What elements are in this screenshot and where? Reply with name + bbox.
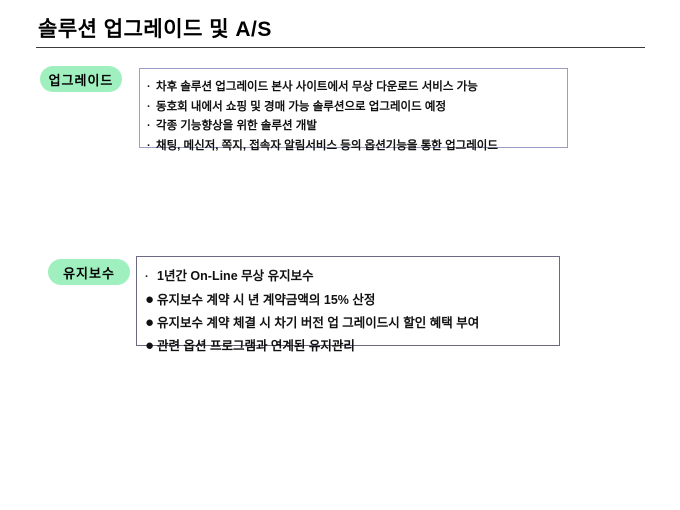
list-item: · 각종 기능향상을 위한 솔루션 개발 xyxy=(147,117,567,137)
bullet-dot-icon: ● xyxy=(145,334,157,357)
upgrade-bullet-list: · 차후 솔루션 업그레이드 본사 사이트에서 무상 다운로드 서비스 가능 ·… xyxy=(147,78,567,156)
bullet-dot-icon: ● xyxy=(145,288,157,311)
bullet-dot-icon: · xyxy=(147,137,156,157)
section-label-upgrade-text: 업그레이드 xyxy=(49,70,114,89)
list-item-text: 유지보수 계약 체결 시 차기 버전 업 그레이드시 할인 혜택 부여 xyxy=(157,312,479,335)
list-item: ● 유지보수 계약 체결 시 차기 버전 업 그레이드시 할인 혜택 부여 xyxy=(145,311,559,334)
list-item: · 1년간 On-Line 무상 유지보수 xyxy=(145,265,559,288)
list-item-text: 관련 옵션 프로그램과 연계된 유지관리 xyxy=(157,335,355,358)
maintenance-content-box: · 1년간 On-Line 무상 유지보수 ● 유지보수 계약 시 년 계약금액… xyxy=(136,256,560,346)
list-item-text: 동호회 내에서 쇼핑 및 경매 가능 솔루션으로 업그레이드 예정 xyxy=(156,98,446,118)
bullet-dot-icon: · xyxy=(147,117,156,137)
list-item-text: 각종 기능향상을 위한 솔루션 개발 xyxy=(156,117,317,137)
list-item-text: 차후 솔루션 업그레이드 본사 사이트에서 무상 다운로드 서비스 가능 xyxy=(156,78,478,98)
list-item: · 동호회 내에서 쇼핑 및 경매 가능 솔루션으로 업그레이드 예정 xyxy=(147,98,567,118)
upgrade-content-box: · 차후 솔루션 업그레이드 본사 사이트에서 무상 다운로드 서비스 가능 ·… xyxy=(139,68,568,148)
bullet-dot-icon: · xyxy=(145,266,157,289)
list-item-text: 채팅, 메신저, 쪽지, 접속자 알림서비스 등의 옵션기능을 통한 업그레이드 xyxy=(156,137,498,157)
section-label-upgrade: 업그레이드 xyxy=(40,66,122,92)
list-item: · 차후 솔루션 업그레이드 본사 사이트에서 무상 다운로드 서비스 가능 xyxy=(147,78,567,98)
list-item: · 채팅, 메신저, 쪽지, 접속자 알림서비스 등의 옵션기능을 통한 업그레… xyxy=(147,137,567,157)
list-item-text: 유지보수 계약 시 년 계약금액의 15% 산정 xyxy=(157,289,375,312)
bullet-dot-icon: ● xyxy=(145,311,157,334)
section-label-maintenance-text: 유지보수 xyxy=(63,263,115,282)
page-title: 솔루션 업그레이드 및 A/S xyxy=(38,17,272,42)
bullet-dot-icon: · xyxy=(147,98,156,118)
list-item-text: 1년간 On-Line 무상 유지보수 xyxy=(157,265,314,288)
list-item: ● 관련 옵션 프로그램과 연계된 유지관리 xyxy=(145,334,559,357)
list-item: ● 유지보수 계약 시 년 계약금액의 15% 산정 xyxy=(145,288,559,311)
maintenance-bullet-list: · 1년간 On-Line 무상 유지보수 ● 유지보수 계약 시 년 계약금액… xyxy=(145,265,559,357)
title-divider xyxy=(36,47,645,48)
slide-canvas: 솔루션 업그레이드 및 A/S 업그레이드 · 차후 솔루션 업그레이드 본사 … xyxy=(0,0,680,510)
bullet-dot-icon: · xyxy=(147,78,156,98)
section-label-maintenance: 유지보수 xyxy=(48,259,130,285)
